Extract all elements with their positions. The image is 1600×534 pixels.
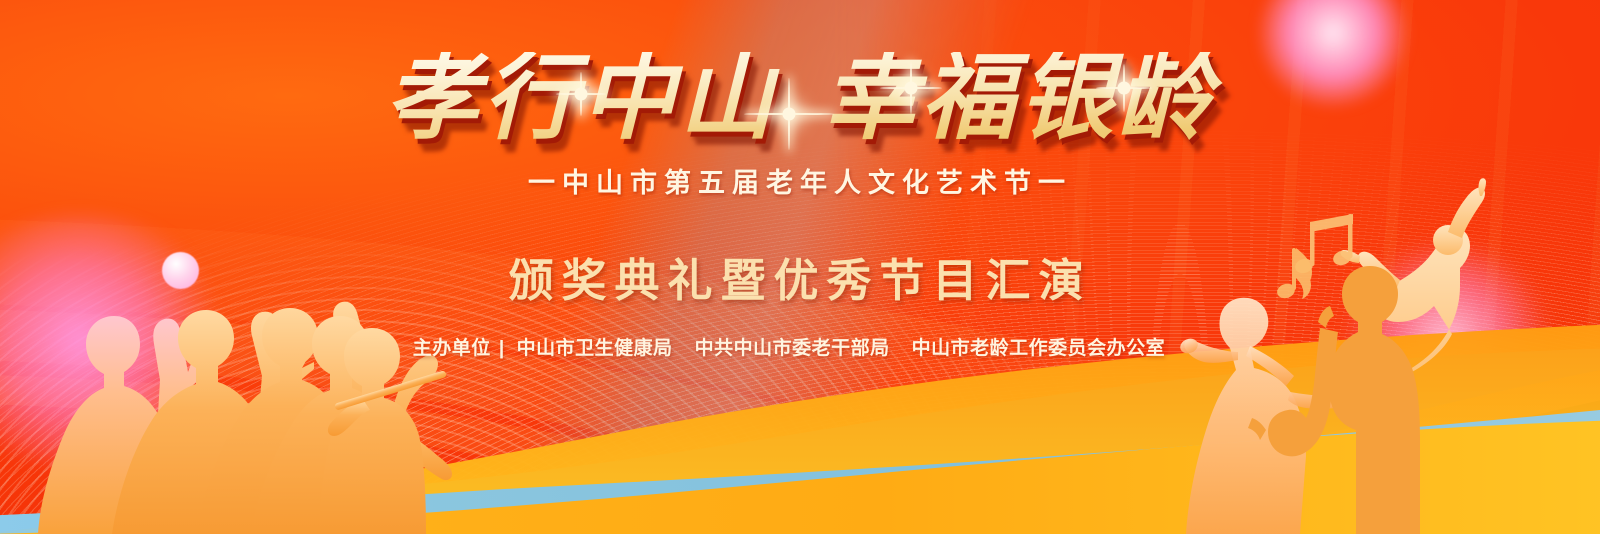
event-poster: 孝行中山幸福银龄 一中山市第五届老年人文化艺术节一 颁奖典礼暨优秀节目汇演 主办…	[0, 0, 1600, 534]
page-title-right: 幸福银龄	[823, 44, 1215, 153]
page-title-left: 孝行中山	[385, 44, 777, 153]
organizer-divider: |	[499, 338, 505, 359]
organizer-unit-3: 中山市老龄工作委员会办公室	[912, 338, 1166, 359]
organizer-unit-2: 中共中山市委老干部局	[695, 338, 890, 359]
organizer-line: 主办单位|中山市卫生健康局中共中山市委老干部局中山市老龄工作委员会办公室	[0, 339, 1600, 358]
text-block: 孝行中山幸福银龄 一中山市第五届老年人文化艺术节一 颁奖典礼暨优秀节目汇演 主办…	[0, 0, 1600, 534]
organizer-label: 主办单位	[413, 338, 491, 359]
page-title: 孝行中山幸福银龄	[0, 52, 1600, 146]
organizer-unit-1: 中山市卫生健康局	[517, 338, 673, 359]
event-subtitle: 一中山市第五届老年人文化艺术节一	[0, 170, 1600, 197]
event-headline: 颁奖典礼暨优秀节目汇演	[0, 258, 1600, 303]
